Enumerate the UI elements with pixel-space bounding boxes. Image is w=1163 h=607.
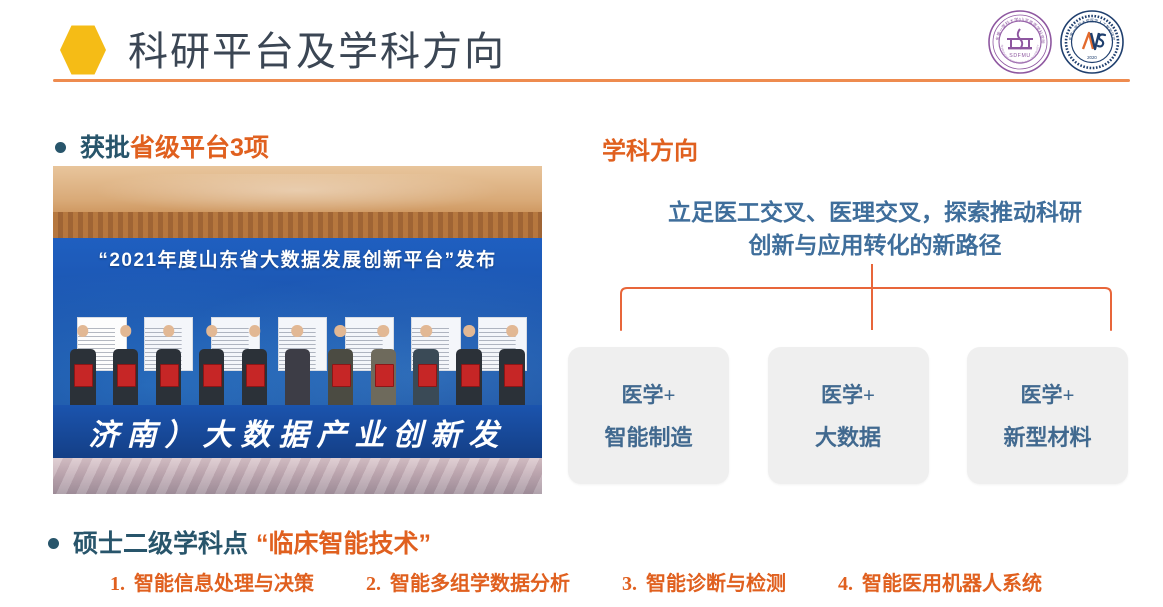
bracket-connector	[560, 262, 1160, 352]
card-medicine-new-materials[interactable]: 医学+ 新型材料	[967, 347, 1128, 484]
bullet-dot-icon	[48, 538, 59, 549]
statement-line-1: 立足医工交叉、医理交叉，探索推动科研	[640, 196, 1110, 229]
photo-banner: 济南）大数据产业创新发	[53, 405, 542, 457]
research-directions-list: 1.智能信息处理与决策 2.智能多组学数据分析 3.智能诊断与检测 4.智能医用…	[110, 567, 1042, 596]
photo-person	[325, 325, 355, 414]
direction-index: 2.	[366, 573, 381, 595]
direction-label: 智能医用机器人系统	[862, 573, 1042, 595]
direction-label: 智能诊断与检测	[646, 573, 786, 595]
bullet-platform: 获批 省级平台3项	[55, 128, 269, 164]
bullet-platform-plain: 获批	[80, 128, 130, 164]
bullet-masters-discipline: 硕士二级学科点 “临床智能技术”	[48, 524, 431, 560]
direction-label: 智能多组学数据分析	[390, 573, 570, 595]
card-line-2: 新型材料	[1003, 420, 1091, 452]
direction-item-3: 3.智能诊断与检测	[622, 567, 786, 596]
photo-person	[368, 325, 398, 414]
photo-screen-headline: “2021年度山东省大数据发展创新平台”发布	[53, 245, 542, 272]
photo-person	[196, 325, 226, 414]
card-medicine-big-data[interactable]: 医学+ 大数据	[768, 347, 929, 484]
svg-text:SDFMU: SDFMU	[1009, 53, 1030, 59]
direction-item-1: 1.智能信息处理与决策	[110, 567, 314, 596]
direction-label: 智能信息处理与决策	[134, 573, 314, 595]
bullet-masters-plain: 硕士二级学科点	[73, 524, 248, 560]
ams-logo: 2020 山东第一医科大学医学人工智能研究院	[1059, 9, 1125, 75]
card-line-2: 智能制造	[604, 420, 692, 452]
hexagon-icon	[60, 24, 106, 76]
photo-banner-text: 济南）大数据产业创新发	[89, 410, 507, 454]
photo-person	[497, 325, 527, 414]
statement-line-2: 创新与应用转化的新路径	[640, 229, 1110, 262]
direction-item-2: 2.智能多组学数据分析	[366, 567, 570, 596]
photo-person	[411, 325, 441, 414]
svg-text:2020: 2020	[1087, 55, 1097, 60]
card-line-1: 医学+	[622, 379, 676, 409]
card-line-1: 医学+	[1021, 379, 1075, 409]
bullet-masters-highlight: “临床智能技术”	[256, 524, 431, 560]
direction-index: 1.	[110, 573, 125, 595]
section-heading-discipline: 学科方向	[602, 131, 698, 166]
slide-root: 科研平台及学科方向 SDFMU 山东第一医科大学(山东省医学科学院) S	[0, 0, 1163, 607]
bullet-platform-highlight: 省级平台3项	[130, 128, 269, 164]
bullet-dot-icon	[55, 142, 66, 153]
photo-person	[282, 325, 312, 414]
award-ceremony-photo: “2021年度山东省大数据发展创新平台”发布 济南）大数据产业创新发	[53, 166, 542, 494]
sdfmu-logo: SDFMU 山东第一医科大学(山东省医学科学院) SHANDONG FIRST …	[987, 9, 1053, 75]
discipline-cards: 医学+ 智能制造 医学+ 大数据 医学+ 新型材料	[568, 347, 1128, 484]
logo-group: SDFMU 山东第一医科大学(山东省医学科学院) SHANDONG FIRST …	[987, 9, 1125, 75]
card-medicine-smart-manufacturing[interactable]: 医学+ 智能制造	[568, 347, 729, 484]
card-line-2: 大数据	[815, 420, 881, 452]
page-title: 科研平台及学科方向	[128, 19, 506, 77]
photo-person	[154, 325, 184, 414]
photo-person	[111, 325, 141, 414]
discipline-statement: 立足医工交叉、医理交叉，探索推动科研 创新与应用转化的新路径	[640, 196, 1110, 263]
photo-person	[239, 325, 269, 414]
photo-people-row	[68, 325, 528, 414]
direction-index: 3.	[622, 573, 637, 595]
card-line-1: 医学+	[821, 379, 875, 409]
photo-person	[68, 325, 98, 414]
direction-item-4: 4.智能医用机器人系统	[838, 567, 1042, 596]
title-divider	[53, 79, 1130, 82]
direction-index: 4.	[838, 573, 853, 595]
photo-floor	[53, 458, 542, 494]
photo-person	[454, 325, 484, 414]
